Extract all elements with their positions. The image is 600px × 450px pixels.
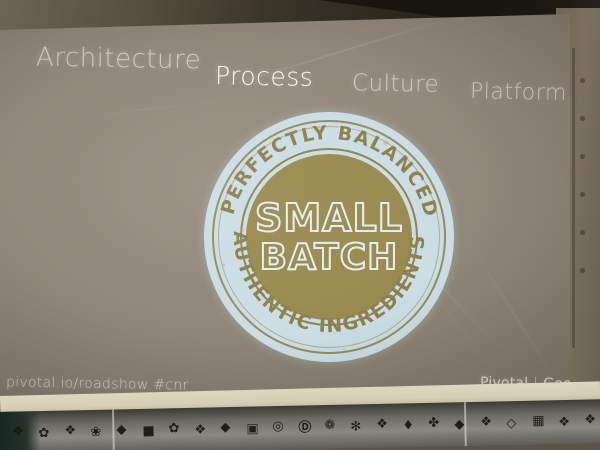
band-glyph: ◇	[506, 417, 516, 430]
band-glyph: ■	[142, 425, 155, 438]
band-glyph: ❖	[584, 413, 596, 426]
band-glyph: ◆	[220, 421, 230, 434]
badge-wordmark-line1: SMALL	[255, 196, 403, 240]
band-glyph-row: ❖✿❖❀◆■✿❖◆▣◎Ⓓ❁✻❖♦✤◆❖◇▦❖❖✿	[0, 413, 600, 450]
band-glyph: Ⓓ	[298, 421, 311, 434]
band-glyph: ❖	[194, 424, 206, 437]
band-glyph: ✻	[350, 420, 361, 433]
wall-seam	[572, 48, 575, 348]
nav-item-culture[interactable]: Culture	[352, 70, 440, 98]
badge-wordmark-line2: BATCH	[204, 238, 454, 278]
nav-item-architecture[interactable]: Architecture	[36, 43, 202, 76]
band-glyph: ◆	[116, 423, 126, 436]
slide-nav: Architecture Process Culture Platform	[0, 14, 570, 124]
small-batch-badge: PERFECTLY BALANCED AUTHENTIC INGREDIENTS…	[202, 110, 456, 364]
band-glyph: ◆	[454, 418, 464, 431]
band-glyph: ✿	[168, 422, 179, 435]
band-glyph: ◎	[272, 420, 284, 433]
band-glyph: ▣	[246, 422, 259, 435]
nav-item-process[interactable]: Process	[215, 61, 314, 92]
band-glyph: ▦	[532, 414, 545, 427]
badge-wordmark: SMALL BATCH	[204, 198, 454, 278]
projection-screen: Architecture Process Culture Platform PE…	[0, 14, 570, 406]
band-glyph: ❖	[376, 418, 388, 431]
band-glyph: ❁	[324, 419, 335, 432]
band-glyph: ✤	[428, 417, 439, 430]
slide-footer-url: pivotal.io/roadshow #cnr	[6, 374, 189, 393]
band-glyph: ❀	[90, 426, 101, 439]
band-glyph: ❖	[64, 424, 76, 437]
nav-item-platform[interactable]: Platform	[470, 79, 567, 106]
band-glyph: ♦	[402, 419, 414, 432]
band-glyph: ✿	[38, 427, 49, 440]
photo-of-projection-screen: Architecture Process Culture Platform PE…	[0, 0, 600, 450]
band-glyph: ❖	[558, 416, 570, 429]
band-glyph: ❖	[480, 416, 492, 429]
wall-dot-column	[576, 78, 596, 308]
band-glyph: ❖	[12, 425, 24, 438]
lens-flare-streak	[469, 243, 562, 389]
